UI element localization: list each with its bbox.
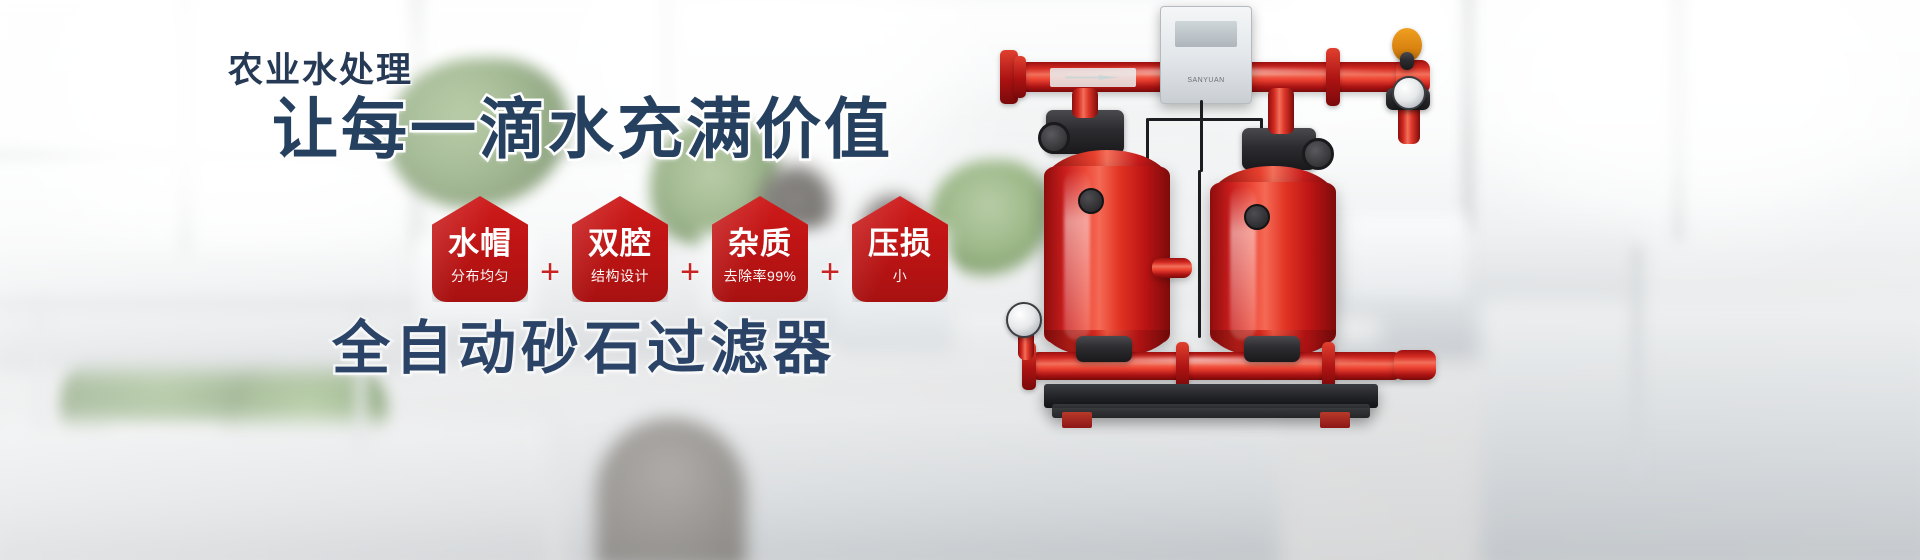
valve-handwheel-right (1302, 138, 1334, 170)
control-wire-right (1200, 118, 1262, 121)
feature-badge-1-subtitle: 分布均匀 (451, 266, 509, 286)
feature-badge-3-title: 杂质 (728, 228, 792, 261)
pipe-drop-right (1268, 88, 1294, 134)
product-sand-gravel-filter: SANYUAN (1000, 0, 1520, 560)
feature-badge-3: 杂质 去除率99% (712, 196, 808, 302)
product-name-headline: 全自动砂石过滤器 (332, 320, 836, 378)
pipe-drop-left (1072, 88, 1098, 118)
pressure-gauge-right (1392, 76, 1426, 110)
control-wire-long (1198, 170, 1201, 338)
feature-badge-4-subtitle: 小 (893, 266, 908, 286)
flange-bottom-right (1322, 342, 1335, 390)
flange-bottom-mid (1176, 342, 1189, 390)
feature-badge-2-title: 双腔 (588, 228, 652, 261)
flange-right-top (1326, 48, 1340, 106)
feature-badge-4: 压损 小 (852, 196, 948, 302)
skid-foot-left (1062, 412, 1092, 428)
valve-bottom-right (1244, 336, 1300, 362)
feature-badge-1-title: 水帽 (448, 228, 512, 261)
hero-banner: SANYUAN (0, 0, 1920, 560)
eyebrow-text: 农业水处理 (228, 42, 413, 93)
control-box-brand-label: SANYUAN (1161, 77, 1251, 84)
feature-badge-4-title: 压损 (868, 228, 932, 261)
flange-inlet-left-2 (1014, 56, 1026, 98)
tank-right-port (1244, 204, 1270, 230)
pipe-side-nozzle (1152, 258, 1192, 278)
feature-badge-1: 水帽 分布均匀 (432, 196, 528, 302)
valve-handwheel-left (1038, 122, 1070, 154)
flow-arrow-label (1050, 68, 1136, 87)
control-box-screen (1175, 21, 1237, 47)
tank-left-body (1044, 166, 1170, 344)
pipe-bottom-outlet (1394, 350, 1436, 380)
feature-badge-2-subtitle: 结构设计 (591, 266, 649, 286)
valve-top-right-stem (1400, 52, 1414, 70)
skid-foot-right (1320, 412, 1350, 428)
page-title: 让每一滴水充满价值 (272, 96, 893, 162)
badge-separator-3: + (808, 255, 852, 289)
control-box: SANYUAN (1160, 6, 1252, 104)
tank-right-body (1210, 182, 1336, 344)
tank-left-port (1078, 188, 1104, 214)
feature-badge-2: 双腔 结构设计 (572, 196, 668, 302)
feature-badge-3-subtitle: 去除率99% (723, 266, 796, 286)
control-wire-left (1148, 118, 1202, 121)
badge-separator-2: + (668, 255, 712, 289)
control-wire-main (1200, 100, 1203, 172)
pressure-gauge-bottom-left (1006, 302, 1042, 338)
valve-bottom-left (1076, 336, 1132, 362)
feature-badge-row: 水帽 分布均匀 + 双腔 结构设计 + 杂质 去除率99% + 压损 小 (432, 196, 948, 302)
badge-separator-1: + (528, 255, 572, 289)
